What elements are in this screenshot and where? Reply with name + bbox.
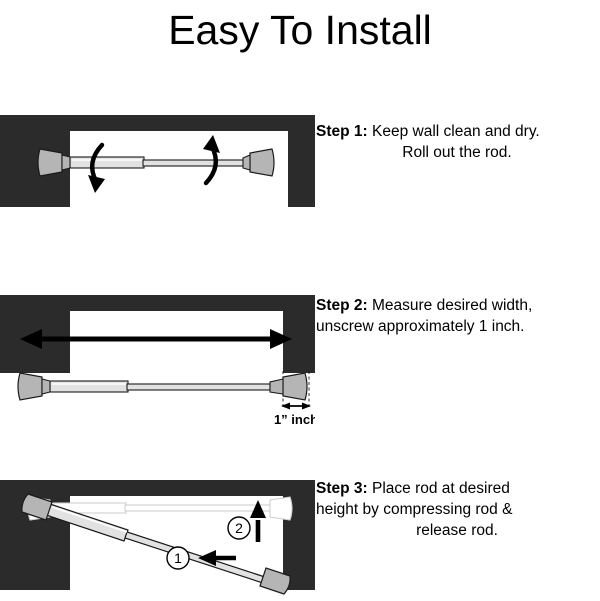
step-2-text-line-1: Measure desired width,: [372, 297, 532, 314]
step-3-text-line-1: Place rod at desired: [372, 480, 510, 497]
one-inch-arrow-icon: [281, 403, 311, 410]
step-2-line-1: Step 2: Measure desired width,: [316, 295, 598, 316]
rod-outer-tube: [50, 381, 128, 392]
step-3-text-line-2: height by compressing rod &: [316, 499, 598, 520]
rod-end-cap-left: [18, 373, 42, 400]
rod-end-cap-left: [38, 149, 62, 176]
rotate-arrow-right-icon: [203, 135, 220, 183]
step-1-label: Step 1:: [316, 123, 368, 140]
rod-inner-tube: [125, 532, 268, 584]
step-2-text: Step 2: Measure desired width, unscrew a…: [316, 295, 598, 337]
callout-one-label: 1: [174, 550, 182, 566]
wall-right-pillar: [288, 115, 315, 207]
step-row-3: 1 2 Step 3: Place rod at desired height …: [0, 460, 600, 601]
step-3-text-line-3: release rod.: [316, 520, 598, 541]
step-3-line-1: Step 3: Place rod at desired: [316, 478, 598, 499]
step-2-diagram: 1” inch: [0, 285, 315, 445]
rod-collar-right: [270, 379, 283, 394]
rod-collar-right: [243, 155, 250, 170]
step-3-text: Step 3: Place rod at desired height by c…: [316, 478, 598, 541]
one-inch-dimension-label: 1” inch: [274, 412, 315, 427]
rod-collar-left: [62, 155, 70, 170]
step-1-text-line-2: Roll out the rod.: [316, 142, 598, 163]
rod-collar-left: [42, 379, 50, 394]
step-3-label: Step 3:: [316, 480, 368, 497]
step-1-illustration: [0, 105, 315, 235]
step-1-text-line-1: Keep wall clean and dry.: [372, 123, 540, 140]
callout-two-label: 2: [235, 520, 243, 536]
step-3-diagram: 1 2: [0, 460, 315, 601]
step-2-text-line-2: unscrew approximately 1 inch.: [316, 316, 598, 337]
step-2-illustration: 1” inch: [0, 285, 315, 445]
step-3-illustration: 1 2: [0, 460, 315, 601]
page-title: Easy To Install: [0, 4, 600, 56]
wall-right-pillar: [283, 295, 315, 373]
rod-inner-tube: [127, 384, 270, 390]
step-1-line-1: Step 1: Keep wall clean and dry.: [316, 121, 598, 142]
step-1-text: Step 1: Keep wall clean and dry. Roll ou…: [316, 121, 598, 163]
wall-right-pillar: [283, 480, 315, 590]
step-row-2: 1” inch Step 2: Measure desired width, u…: [0, 285, 600, 445]
rotate-arrow-left-icon: [88, 145, 105, 193]
rod-outer-tube: [70, 157, 144, 168]
rod-inner-tube: [143, 160, 253, 166]
step-2-label: Step 2:: [316, 297, 368, 314]
rod-end-cap-right: [250, 149, 274, 176]
rod-end-cap-right: [283, 373, 307, 400]
step-1-diagram: [0, 105, 315, 235]
step-row-1: Step 1: Keep wall clean and dry. Roll ou…: [0, 105, 600, 235]
